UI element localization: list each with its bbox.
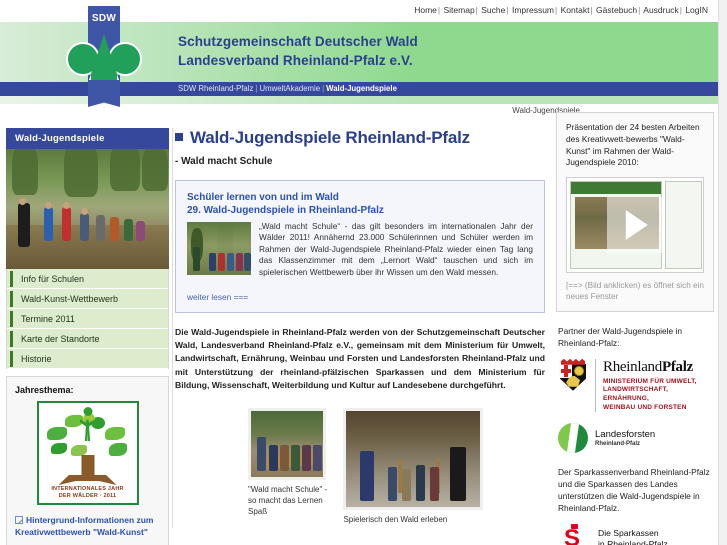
video-slide-right <box>665 181 702 269</box>
main-content: Wald-Jugendspiele Rheinland-Pfalz - Wald… <box>172 128 550 525</box>
topnav-item-kontakt[interactable]: Kontakt <box>561 5 590 15</box>
news-headline-line2: 29. Wald-Jugendspiele in Rheinland-Pfalz <box>187 204 533 217</box>
sparkassen-logo-text: Die Sparkassen in Rheinland-Pfalz <box>598 528 668 545</box>
news-headline-line1: Schüler lernen von und im Wald <box>187 191 533 204</box>
sidebar-item-info-fuer-schulen[interactable]: Info für Schulen <box>7 269 168 289</box>
nav-separator: | <box>475 5 479 15</box>
nav-separator: | <box>637 5 641 15</box>
logo-person-head-icon <box>83 407 92 416</box>
landesforsten-logo[interactable]: Landesforsten Rheinland-Pfalz <box>558 423 714 453</box>
site-title-line2: Landesverband Rheinland-Pfalz e.V. <box>178 51 418 70</box>
sparkassen-logo[interactable]: S Die Sparkassen in Rheinland-Pfalz <box>558 524 714 545</box>
landesforsten-mark-icon <box>558 423 588 453</box>
subnav-item-wald-jugendspiele[interactable]: Wald-Jugendspiele <box>326 84 397 93</box>
sidebar-theme-panel: Jahresthema: INTERNATIONALES JAH <box>6 376 169 545</box>
sdw-logo[interactable]: SDW <box>56 6 152 114</box>
sidebar-item-label: Termine 2011 <box>21 314 75 324</box>
sidebar-item-label: Wald-Kunst-Wettbewerb <box>21 294 118 304</box>
photo-caption-2: Spielerisch den Wald erleben <box>343 514 493 525</box>
subnav-item-umweltakademie[interactable]: UmweltAkademie <box>259 84 320 93</box>
partner-section: Partner der Wald-Jugendspiele in Rheinla… <box>556 326 714 545</box>
topnav-item-gaestebuch[interactable]: Gästebuch <box>596 5 637 15</box>
ministry-name: MINISTERIUM FÜR UMWELT, LANDWIRTSCHAFT, … <box>603 378 714 412</box>
sidebar-title: Wald-Jugendspiele <box>6 128 169 149</box>
logo-caption-line1: INTERNATIONALES JAHR <box>51 486 123 492</box>
photo-card-2: Spielerisch den Wald erleben <box>343 408 493 525</box>
nav-separator: | <box>679 5 683 15</box>
presentation-text: Präsentation der 24 besten Arbeiten des … <box>566 122 704 169</box>
photo-gallery-row: "Wald macht Schule" - so macht das Lerne… <box>248 408 550 525</box>
external-link-icon <box>15 516 23 524</box>
subnav-item-sdw-rlp[interactable]: SDW Rheinland-Pfalz <box>178 84 253 93</box>
international-year-of-forests-logo[interactable]: INTERNATIONALES JAHR DER WÄLDER · 2011 <box>37 401 139 505</box>
page-right-edge <box>718 0 727 545</box>
ministry-line2: LANDWIRTSCHAFT, ERNÄHRUNG, <box>603 386 668 402</box>
nav-separator: | <box>505 5 509 15</box>
news-thumbnail-image[interactable] <box>187 222 251 275</box>
sparkassen-logo-line1: Die Sparkassen <box>598 528 659 538</box>
theme-title: Jahresthema: <box>15 385 160 395</box>
topnav-item-sitemap[interactable]: Sitemap <box>443 5 474 15</box>
news-read-more-link[interactable]: weiter lesen === <box>187 292 533 302</box>
left-sidebar: Wald-Jugendspiele Info für Schulen <box>6 128 169 545</box>
photo-spielerisch-wald-erleben[interactable] <box>343 408 483 510</box>
sparkassen-s-letter: S <box>564 529 586 545</box>
sidebar-menu: Info für Schulen Wald-Kunst-Wettbewerb T… <box>6 269 169 369</box>
logo-caption: INTERNATIONALES JAHR DER WÄLDER · 2011 <box>39 486 137 500</box>
topnav-item-impressum[interactable]: Impressum <box>512 5 554 15</box>
page-subtitle: - Wald macht Schule <box>175 156 550 167</box>
sidebar-photo-forest-group <box>6 149 169 269</box>
nav-separator: | <box>589 5 593 15</box>
sparkassen-s-icon: S <box>564 524 588 545</box>
page-title-text: Wald-Jugendspiele Rheinland-Pfalz <box>190 128 470 147</box>
sidebar-item-wald-kunst-wettbewerb[interactable]: Wald-Kunst-Wettbewerb <box>7 289 168 309</box>
ministry-line3: WEINBAU UND FORSTEN <box>603 404 687 411</box>
logo-roots-icon <box>59 475 117 485</box>
photo-caption-1: "Wald macht Schule" - so macht das Lerne… <box>248 484 330 517</box>
sparkassen-logo-line2: in Rheinland-Pfalz <box>598 539 668 545</box>
photo-wald-macht-schule[interactable] <box>248 408 326 480</box>
presentation-video-thumbnail[interactable] <box>566 177 704 273</box>
nav-separator: | <box>437 5 441 15</box>
page-root: Home| Sitemap| Suche| Impressum| Kontakt… <box>0 0 727 545</box>
play-button-icon[interactable] <box>607 197 663 253</box>
background-info-link[interactable]: Hintergrund-Informationen zum Kreativwet… <box>15 514 160 538</box>
landesforsten-name-text: Landesforsten <box>595 429 655 440</box>
topnav-item-suche[interactable]: Suche <box>481 5 505 15</box>
logo-text: SDW <box>88 13 120 24</box>
wordmark-part1: Rheinland <box>603 359 662 375</box>
logo-caption-line2: DER WÄLDER · 2011 <box>59 493 117 499</box>
main-paragraph: Die Wald-Jugendspiele in Rheinland-Pfalz… <box>175 326 545 392</box>
video-caption: [==> (Bild anklicken) es öffnet sich ein… <box>566 280 704 302</box>
site-title-line1: Schutzgemeinschaft Deutscher Wald <box>178 32 418 51</box>
site-title-block: Schutzgemeinschaft Deutscher Wald Landes… <box>178 32 418 70</box>
sidebar-item-label: Info für Schulen <box>21 274 84 284</box>
rheinland-pfalz-ministry-logo[interactable]: RheinlandPfalz MINISTERIUM FÜR UMWELT, L… <box>558 359 714 412</box>
sidebar-item-label: Karte der Standorte <box>21 334 100 344</box>
wordmark-part2: Pfalz <box>662 359 693 375</box>
sidebar-item-karte-der-standorte[interactable]: Karte der Standorte <box>7 329 168 349</box>
coat-of-arms-icon <box>558 359 588 393</box>
ministry-line1: MINISTERIUM FÜR UMWELT, <box>603 378 697 385</box>
bullet-square-icon <box>175 133 183 141</box>
landesforsten-text-block: Landesforsten Rheinland-Pfalz <box>595 429 655 447</box>
landesforsten-name: Landesforsten <box>595 429 655 440</box>
topnav-item-home[interactable]: Home <box>414 5 437 15</box>
background-info-link-label: Hintergrund-Informationen zum Kreativwet… <box>15 515 154 537</box>
sidebar-item-termine-2011[interactable]: Termine 2011 <box>7 309 168 329</box>
nav-separator: | <box>554 5 558 15</box>
ministry-text-block: RheinlandPfalz MINISTERIUM FÜR UMWELT, L… <box>595 359 714 412</box>
rheinland-pfalz-wordmark: RheinlandPfalz <box>603 359 714 375</box>
news-teaser-box: Schüler lernen von und im Wald 29. Wald-… <box>175 180 545 313</box>
sidebar-item-historie[interactable]: Historie <box>7 349 168 369</box>
photo-card-1: "Wald macht Schule" - so macht das Lerne… <box>248 408 330 517</box>
partner-intro-text: Partner der Wald-Jugendspiele in Rheinla… <box>558 326 714 350</box>
topnav-item-login[interactable]: LogIN <box>685 5 708 15</box>
presentation-box: Präsentation der 24 besten Arbeiten des … <box>556 112 714 312</box>
right-sidebar: Präsentation der 24 besten Arbeiten des … <box>556 112 714 545</box>
sparkassen-text: Der Sparkassenverband Rheinland-Pfalz un… <box>558 467 714 514</box>
landesforsten-subtitle: Rheinland-Pfalz <box>595 441 655 447</box>
topnav-item-ausdruck[interactable]: Ausdruck <box>643 5 678 15</box>
section-nav-items: SDW Rheinland-Pfalz|UmweltAkademie|Wald-… <box>178 84 397 93</box>
page-title: Wald-Jugendspiele Rheinland-Pfalz <box>175 128 550 148</box>
sidebar-item-label: Historie <box>21 354 52 364</box>
